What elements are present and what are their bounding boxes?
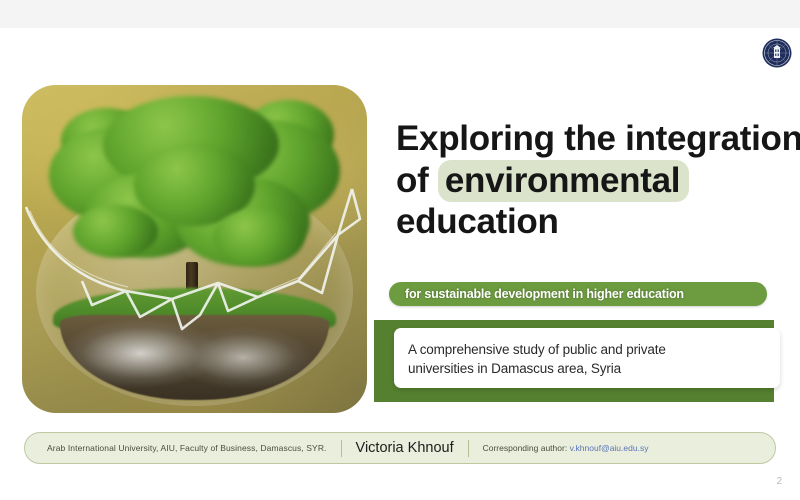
title-line-3: education (396, 201, 794, 243)
footer-contact-label: Corresponding author: (483, 443, 570, 453)
footer-affiliation: Arab International University, AIU, Facu… (25, 443, 327, 453)
title-line-1: Exploring the integration (396, 118, 794, 160)
description-card: A comprehensive study of public and priv… (394, 328, 780, 388)
university-seal-icon (762, 38, 792, 68)
viewer-top-band (0, 0, 800, 29)
footer-author-name: Victoria Khnouf (356, 440, 454, 456)
footer-contact-email-link[interactable]: v.khnouf@aiu.edu.sy (570, 443, 649, 453)
tree-in-broken-glass-sphere-image (22, 85, 367, 413)
page-number: 2 (776, 476, 782, 487)
footer-contact: Corresponding author: v.khnouf@aiu.edu.s… (483, 443, 649, 453)
presentation-slide: Exploring the integration of environment… (0, 28, 800, 472)
title-line-2: of environmental (396, 160, 794, 202)
footer-divider-2 (468, 440, 469, 457)
title-line-2-prefix: of (396, 161, 438, 200)
footer-affiliation-bar: Arab International University, AIU, Facu… (24, 432, 776, 464)
slide-title: Exploring the integration of environment… (396, 118, 794, 243)
description-line-2: universities in Damascus area, Syria (408, 361, 621, 376)
title-highlight-environmental: environmental (438, 160, 689, 202)
description-line-1: A comprehensive study of public and priv… (408, 342, 666, 357)
subtitle-text: for sustainable development in higher ed… (405, 287, 684, 301)
footer-divider-1 (341, 440, 342, 457)
subtitle-banner: for sustainable development in higher ed… (389, 282, 767, 306)
